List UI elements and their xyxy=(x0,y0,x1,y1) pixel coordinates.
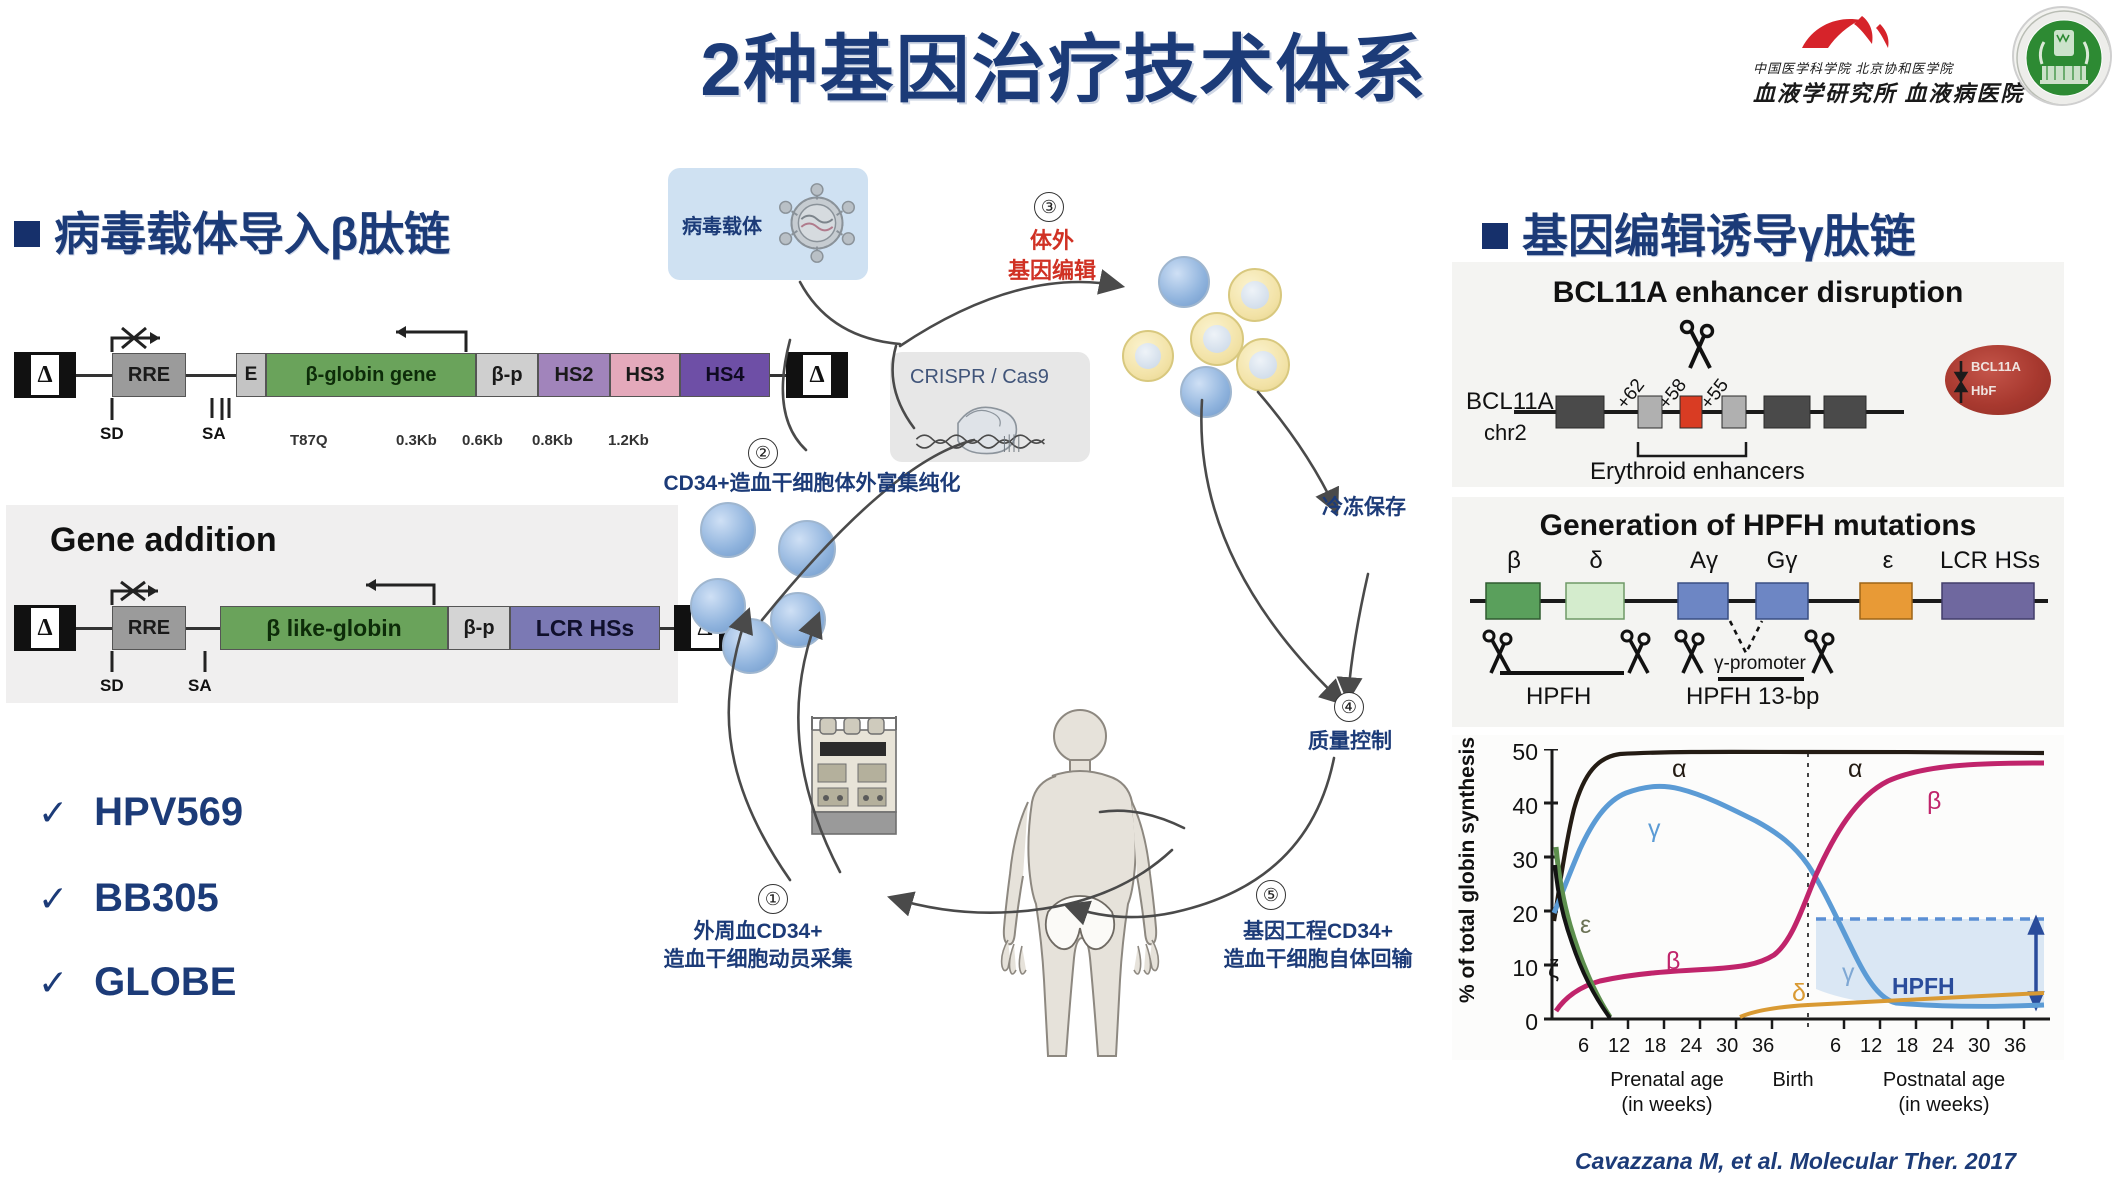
y-tick-0: 0 xyxy=(1482,1009,1538,1036)
block-beta-globin-gene: β-globin gene xyxy=(266,353,476,397)
x-tick-pre-12: 12 xyxy=(1608,1035,1630,1058)
cell-cd34 xyxy=(770,592,826,648)
hpfh-annotation-label: HPFH xyxy=(1892,973,1955,1000)
gene-label-delta: δ xyxy=(1576,547,1616,575)
x-tick-pre-18: 18 xyxy=(1644,1035,1666,1058)
erythroid-enhancers-label: Erythroid enhancers xyxy=(1590,458,1805,486)
block-lcr-hss: LCR HSs xyxy=(510,606,660,650)
scissors-icon xyxy=(1622,631,1649,673)
apheresis-machine-icon xyxy=(800,712,910,842)
label-sd-2: SD xyxy=(100,676,124,696)
x-tick-post-12: 12 xyxy=(1860,1035,1882,1058)
viral-vector-label: 病毒载体 xyxy=(682,210,762,239)
cell-edited xyxy=(1228,268,1282,322)
step-number-2: ② xyxy=(748,438,778,468)
step-number-1: ① xyxy=(758,884,788,914)
cell-cd34 xyxy=(700,502,756,558)
step-2-label: CD34+造血干细胞体外富集纯化 xyxy=(622,470,1002,498)
block-beta-like-globin: β like-globin xyxy=(220,606,448,650)
x-tick-post-30: 30 xyxy=(1968,1035,1990,1058)
institute-logo: 中国医学科学院 北京协和医学院 血液学研究所 血液病医院 xyxy=(1745,14,1970,110)
gene-label-beta: β xyxy=(1494,547,1534,575)
checklist-label: GLOBE xyxy=(94,960,236,1004)
label-sa-1: SA xyxy=(202,424,226,444)
red-blood-cell-icon: BCL11A HbF xyxy=(1945,345,2051,415)
wire-segment xyxy=(76,627,112,630)
wire-segment xyxy=(770,374,786,377)
x-axis-caption-birth: Birth xyxy=(1744,1068,1842,1093)
gene-construct-lentiviral: Δ RRE E β-globin gene β-p HS2 HS3 HS4 Δ xyxy=(14,352,848,398)
label-03kb: 0.3Kb xyxy=(396,432,437,449)
step-number-4: ④ xyxy=(1334,692,1364,722)
prenatal-line2: (in weeks) xyxy=(1621,1094,1712,1116)
hpfh-panel: Generation of HPFH mutations xyxy=(1452,497,2064,727)
seal-icon xyxy=(2014,8,2112,106)
postnatal-line2: (in weeks) xyxy=(1898,1094,1989,1116)
chart-y-axis-label: % of total globin synthesis xyxy=(1456,737,1480,1003)
step-1-line1: 外周血CD34+ xyxy=(694,920,823,943)
arrow-icons xyxy=(1953,359,1969,405)
y-tick-20: 20 xyxy=(1482,901,1538,928)
cell-unedited xyxy=(1158,256,1210,308)
cas9-dna-icon xyxy=(894,388,1086,460)
y-tick-40: 40 xyxy=(1482,793,1538,820)
cell-cd34 xyxy=(778,520,836,578)
cell-edited xyxy=(1122,330,1174,382)
ltr-block-right: Δ xyxy=(786,352,848,398)
ltr-delta-label: Δ xyxy=(803,355,831,395)
gene-addition-title: Gene addition xyxy=(50,521,277,560)
checklist-label: BB305 xyxy=(94,876,219,920)
y-tick-30: 30 xyxy=(1482,847,1538,874)
wire-segment xyxy=(186,374,236,377)
slide-root: 2种基因治疗技术体系 中国医学科学院 北京协和医学院 血液学研究所 血液病医院 xyxy=(0,0,2128,1192)
scissors-icon xyxy=(1682,322,1713,369)
ltr-delta-label: Δ xyxy=(31,355,59,395)
x-tick-pre-30: 30 xyxy=(1716,1035,1738,1058)
curve-label-alpha-prenatal: α xyxy=(1672,755,1686,784)
step-3-line1: 体外 xyxy=(1030,228,1074,253)
x-tick-post-18: 18 xyxy=(1896,1035,1918,1058)
logo-calligraphy-bottom: 血液学研究所 血液病医院 xyxy=(1753,76,2025,108)
gene-label-lcr-hss: LCR HSs xyxy=(1930,547,2050,575)
logo-calligraphy-top: 中国医学科学院 北京协和医学院 xyxy=(1753,58,1953,77)
block-e: E xyxy=(236,353,266,397)
step-1-label: 外周血CD34+ 造血干细胞动员采集 xyxy=(608,918,908,975)
block-rre: RRE xyxy=(112,353,186,397)
crispr-label: CRISPR / Cas9 xyxy=(910,366,1049,389)
checklist-item-bb305[interactable]: ✓BB305 xyxy=(38,876,219,921)
viral-vector-box: 病毒载体 xyxy=(668,168,868,280)
curve-label-gamma-prenatal: γ xyxy=(1648,815,1661,844)
gene-label-ggamma: Gγ xyxy=(1758,547,1806,575)
check-icon: ✓ xyxy=(38,792,68,833)
cell-unedited xyxy=(1180,366,1232,418)
ltr-block-left: Δ xyxy=(14,605,76,651)
x-axis-caption-prenatal: Prenatal age(in weeks) xyxy=(1572,1068,1762,1118)
ltr-delta-label: Δ xyxy=(31,608,59,648)
label-sd-1: SD xyxy=(100,424,124,444)
block-hs3: HS3 xyxy=(610,353,680,397)
section-heading-left-text: 病毒载体导入β肽链 xyxy=(54,208,450,260)
bullet-square-icon xyxy=(1482,223,1508,249)
x-tick-pre-24: 24 xyxy=(1680,1035,1702,1058)
curve-label-zeta: ζ xyxy=(1548,955,1559,984)
virus-particle-icon xyxy=(768,174,866,272)
step-5-label: 基因工程CD34+ 造血干细胞自体回输 xyxy=(1182,918,1454,975)
human-body-icon xyxy=(960,700,1200,1100)
wire-segment xyxy=(660,627,674,630)
step-3-line2: 基因编辑 xyxy=(1008,258,1096,283)
curve-label-beta-postnatal: β xyxy=(1927,787,1941,816)
label-08kb: 0.8Kb xyxy=(532,432,573,449)
red-swoosh-icon xyxy=(1800,14,1920,56)
label-sa-2: SA xyxy=(188,676,212,696)
x-tick-pre-6: 6 xyxy=(1578,1035,1589,1058)
prenatal-line1: Prenatal age xyxy=(1610,1069,1723,1091)
y-tick-50: 50 xyxy=(1482,739,1538,766)
gene-addition-panel: Gene addition Δ RRE β like-globin β-p LC… xyxy=(6,505,678,703)
check-icon: ✓ xyxy=(38,878,68,919)
step-1-line2: 造血干细胞动员采集 xyxy=(664,948,853,971)
x-tick-post-36: 36 xyxy=(2004,1035,2026,1058)
gene-construct-addition: Δ RRE β like-globin β-p LCR HSs Δ xyxy=(14,605,736,651)
construct-blocks-row: Δ RRE E β-globin gene β-p HS2 HS3 HS4 Δ xyxy=(14,352,848,398)
curve-label-beta-prenatal: β xyxy=(1666,947,1680,976)
step-4-label: 质量控制 xyxy=(1298,728,1402,756)
step-5-line2: 造血干细胞自体回输 xyxy=(1224,948,1413,971)
section-heading-left: 病毒载体导入β肽链 xyxy=(14,198,450,264)
block-rre: RRE xyxy=(112,606,186,650)
gene-label-epsilon: ε xyxy=(1868,547,1908,575)
curve-label-epsilon: ε xyxy=(1580,911,1591,940)
block-beta-promoter: β-p xyxy=(448,606,510,650)
step-number-3: ③ xyxy=(1034,192,1064,222)
cell-edited xyxy=(1236,338,1290,392)
label-12kb: 1.2Kb xyxy=(608,432,649,449)
wire-segment xyxy=(186,627,220,630)
x-axis-caption-postnatal: Postnatal age(in weeks) xyxy=(1846,1068,2042,1118)
check-icon: ✓ xyxy=(38,962,68,1003)
citation-text: Cavazzana M, et al. Molecular Ther. 2017 xyxy=(1575,1148,2016,1175)
wire-segment xyxy=(76,374,112,377)
gamma-promoter-label: γ-promoter xyxy=(1714,653,1806,675)
step-number-5: ⑤ xyxy=(1256,880,1286,910)
step-5-line1: 基因工程CD34+ xyxy=(1243,920,1393,943)
scissors-icon xyxy=(1806,631,1833,673)
block-hs4: HS4 xyxy=(680,353,770,397)
construct-blocks-row: Δ RRE β like-globin β-p LCR HSs Δ xyxy=(14,605,736,651)
hpfh-13bp-label: HPFH 13-bp xyxy=(1686,683,1819,711)
cryopreservation-label: 冷冻保存 xyxy=(1312,494,1416,522)
globin-synthesis-chart-panel: % of total globin synthesis 50 40 30 20 … xyxy=(1452,735,2064,1060)
checklist-item-hpv569[interactable]: ✓HPV569 xyxy=(38,790,243,835)
gene-label-agamma: Aγ xyxy=(1680,547,1728,575)
scissors-icon xyxy=(1484,631,1511,673)
label-t87q: T87Q xyxy=(290,432,328,449)
block-beta-promoter: β-p xyxy=(476,353,538,397)
postnatal-line1: Postnatal age xyxy=(1883,1069,2005,1091)
curve-label-alpha-postnatal: α xyxy=(1848,755,1862,784)
checklist-item-globe[interactable]: ✓GLOBE xyxy=(38,960,236,1005)
pumc-seal-logo xyxy=(2012,6,2112,106)
ltr-block-left: Δ xyxy=(14,352,76,398)
step-3-label: 体外 基因编辑 xyxy=(1000,226,1104,285)
y-tick-10: 10 xyxy=(1482,955,1538,982)
scissors-icon xyxy=(1676,631,1703,673)
x-tick-post-6: 6 xyxy=(1830,1035,1841,1058)
cell-cd34 xyxy=(722,618,778,674)
checklist-label: HPV569 xyxy=(94,790,243,834)
crispr-cas9-box: CRISPR / Cas9 xyxy=(890,352,1090,462)
section-heading-right-text: 基因编辑诱导γ肽链 xyxy=(1522,210,1916,262)
rbc-bcl11a-label: BCL11A xyxy=(1971,359,2021,374)
bullet-square-icon xyxy=(14,221,40,247)
hpfh-label: HPFH xyxy=(1526,683,1591,711)
rbc-hbf-label: HbF xyxy=(1971,383,1996,398)
x-tick-post-24: 24 xyxy=(1932,1035,1954,1058)
x-tick-pre-36: 36 xyxy=(1752,1035,1774,1058)
curve-label-gamma-postnatal: γ xyxy=(1842,959,1855,988)
curve-label-delta: δ xyxy=(1792,979,1806,1008)
section-heading-right: 基因编辑诱导γ肽链 xyxy=(1482,200,1916,266)
label-06kb: 0.6Kb xyxy=(462,432,503,449)
block-hs2: HS2 xyxy=(538,353,610,397)
